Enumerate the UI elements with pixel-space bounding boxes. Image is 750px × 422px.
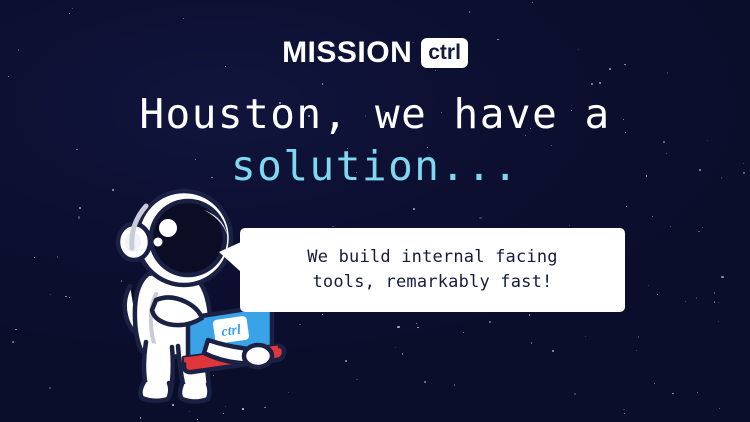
star [50, 294, 51, 295]
star [696, 297, 697, 298]
star [648, 285, 649, 286]
star [463, 332, 464, 333]
star [413, 208, 415, 210]
star [552, 350, 554, 352]
star [702, 227, 703, 228]
star [69, 297, 70, 298]
star [714, 301, 715, 302]
star [79, 207, 81, 209]
star [529, 314, 530, 315]
star [599, 82, 601, 84]
star [397, 326, 400, 329]
star [479, 217, 482, 220]
star [402, 353, 403, 354]
star [435, 70, 436, 71]
star [569, 225, 570, 226]
star [672, 393, 673, 394]
star [172, 404, 173, 405]
star [345, 360, 347, 362]
star [416, 323, 417, 324]
star [454, 384, 455, 385]
star [49, 387, 51, 389]
star [638, 336, 639, 337]
star [718, 302, 719, 303]
star [34, 257, 35, 258]
star [636, 350, 637, 351]
star [719, 408, 720, 409]
star [288, 392, 289, 393]
star [626, 206, 627, 207]
star [264, 407, 266, 409]
star [624, 413, 625, 414]
star [299, 324, 300, 325]
star [714, 292, 715, 293]
star [721, 276, 724, 279]
star [591, 83, 593, 85]
star [12, 341, 13, 342]
star [223, 413, 224, 414]
star [322, 83, 323, 84]
speech-bubble-text: We build internal facing tools, remarkab… [307, 245, 557, 294]
hero-banner: MISSION ctrl Houston, we have a solution… [0, 0, 750, 422]
star [667, 72, 669, 74]
star [183, 18, 184, 19]
star [225, 406, 226, 407]
star [189, 411, 190, 412]
star [197, 419, 198, 420]
star [69, 13, 70, 14]
star [489, 321, 491, 323]
star [469, 11, 471, 13]
speech-bubble-tail [219, 242, 241, 272]
headline-line-2: solution... [0, 140, 750, 192]
star [697, 392, 699, 394]
star [8, 76, 9, 77]
star [72, 8, 73, 9]
logo-wordmark: MISSION [282, 38, 412, 68]
star [65, 296, 67, 298]
star [698, 231, 700, 233]
star [670, 226, 671, 227]
star [685, 301, 686, 302]
star [242, 408, 243, 409]
page-title: Houston, we have a solution... [0, 88, 750, 193]
star [322, 314, 323, 315]
speech-bubble: We build internal facing tools, remarkab… [240, 228, 625, 312]
star [57, 256, 59, 258]
star [623, 409, 625, 411]
star [78, 216, 81, 219]
star [417, 327, 418, 328]
star [532, 2, 533, 3]
star [424, 381, 426, 383]
star [657, 294, 658, 295]
star [652, 216, 653, 217]
star [140, 417, 141, 418]
star [585, 336, 586, 337]
star [15, 329, 16, 330]
star [531, 342, 532, 343]
star [718, 321, 719, 322]
brand-logo: MISSION ctrl [0, 38, 750, 68]
star [356, 379, 357, 380]
star [395, 347, 396, 348]
logo-ctrl-badge: ctrl [421, 38, 468, 68]
laptop-sticker-label: ctrl [221, 323, 242, 341]
headline-line-1: Houston, we have a [0, 88, 750, 140]
star [654, 383, 655, 384]
star [574, 393, 575, 394]
